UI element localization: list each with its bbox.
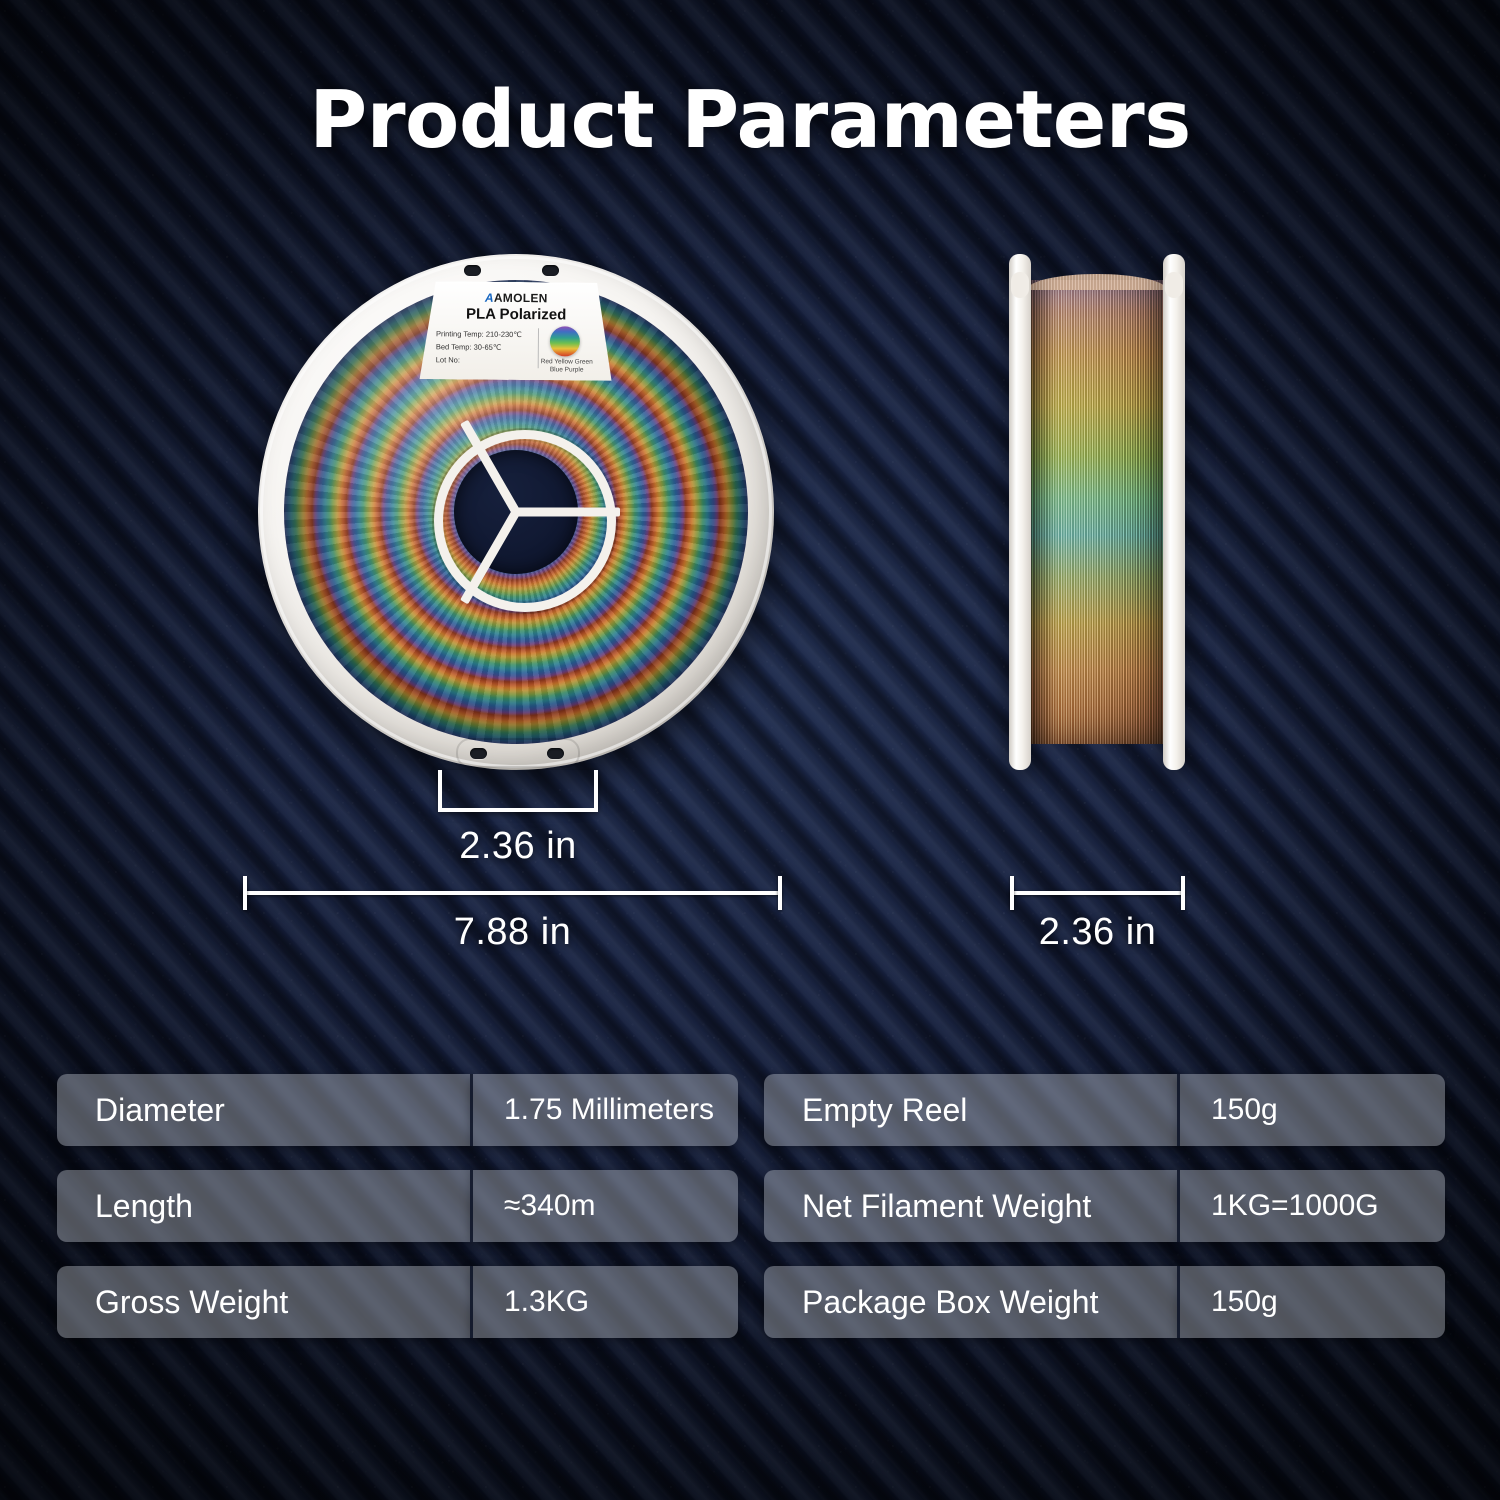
filament-feed-hole <box>547 748 564 759</box>
parameter-pair-empty-reel: Empty Reel 150g <box>764 1074 1445 1146</box>
spool-flange-left <box>1009 254 1031 770</box>
label-spec-printing-temp: Printing Temp: 210-230℃ <box>436 327 534 341</box>
parameter-pair-net-filament-weight: Net Filament Weight 1KG=1000G <box>764 1170 1445 1242</box>
filament-feed-hole <box>542 265 559 276</box>
color-swatch-icon <box>550 326 580 356</box>
hub-width-bracket <box>438 770 598 812</box>
table-row: Gross Weight 1.3KG Package Box Weight 15… <box>57 1266 1445 1338</box>
side-hub-left <box>1011 272 1029 298</box>
filament-feed-hole <box>470 748 487 759</box>
filament-feed-hole <box>464 265 481 276</box>
parameter-pair-package-box-weight: Package Box Weight 150g <box>764 1266 1445 1338</box>
parameter-value: 1KG=1000G <box>1177 1170 1445 1242</box>
table-row: Length ≈340m Net Filament Weight 1KG=100… <box>57 1170 1445 1242</box>
parameter-label: Package Box Weight <box>764 1266 1177 1338</box>
label-spec-bed-temp: Bed Temp: 30-65℃ <box>436 340 534 354</box>
thickness-line <box>1010 891 1185 895</box>
parameter-value: 1.75 Millimeters <box>470 1074 738 1146</box>
brand-mark-icon: A <box>485 291 494 305</box>
spool-diameter-label: 7.88 in <box>243 911 782 954</box>
label-specs: Printing Temp: 210-230℃ Bed Temp: 30-65℃… <box>436 327 534 367</box>
diameter-end-tick-right <box>778 876 782 910</box>
parameter-value: 150g <box>1177 1266 1445 1338</box>
side-view-filament-spool <box>1009 254 1185 770</box>
parameter-label: Gross Weight <box>57 1266 470 1338</box>
color-swatch-label: Red Yellow Green Blue Purple <box>536 358 598 375</box>
parameter-pair-length: Length ≈340m <box>57 1170 738 1242</box>
thickness-end-tick-left <box>1010 876 1014 910</box>
label-material-name: PLA Polarized <box>420 305 612 324</box>
parameters-table: Diameter 1.75 Millimeters Empty Reel 150… <box>57 1074 1445 1362</box>
brand-name: AMOLEN <box>494 291 548 305</box>
parameter-label: Diameter <box>57 1074 470 1146</box>
parameter-pair-diameter: Diameter 1.75 Millimeters <box>57 1074 738 1146</box>
side-hub-right <box>1165 272 1183 298</box>
diameter-end-tick-left <box>243 876 247 910</box>
parameter-label: Length <box>57 1170 470 1242</box>
parameter-label: Empty Reel <box>764 1074 1177 1146</box>
spool-thickness-label: 2.36 in <box>1010 911 1185 954</box>
side-filament-top-edge <box>1027 274 1167 290</box>
label-spec-lot-no: Lot No: <box>436 353 534 367</box>
parameter-value: ≈340m <box>470 1170 738 1242</box>
parameter-value: 1.3KG <box>470 1266 738 1338</box>
hub-width-label: 2.36 in <box>438 825 598 868</box>
front-view-filament-spool: AAMOLEN PLA Polarized Printing Temp: 210… <box>258 254 774 770</box>
spool-label: AAMOLEN PLA Polarized Printing Temp: 210… <box>420 281 613 381</box>
diameter-line <box>243 891 782 895</box>
page-title: Product Parameters <box>0 74 1500 166</box>
thickness-end-tick-right <box>1181 876 1185 910</box>
brand-logo: AAMOLEN <box>420 290 612 306</box>
table-row: Diameter 1.75 Millimeters Empty Reel 150… <box>57 1074 1445 1146</box>
parameter-value: 150g <box>1177 1074 1445 1146</box>
spool-flange-right <box>1163 254 1185 770</box>
parameter-pair-gross-weight: Gross Weight 1.3KG <box>57 1266 738 1338</box>
side-filament-sheen <box>1027 280 1167 744</box>
parameter-label: Net Filament Weight <box>764 1170 1177 1242</box>
